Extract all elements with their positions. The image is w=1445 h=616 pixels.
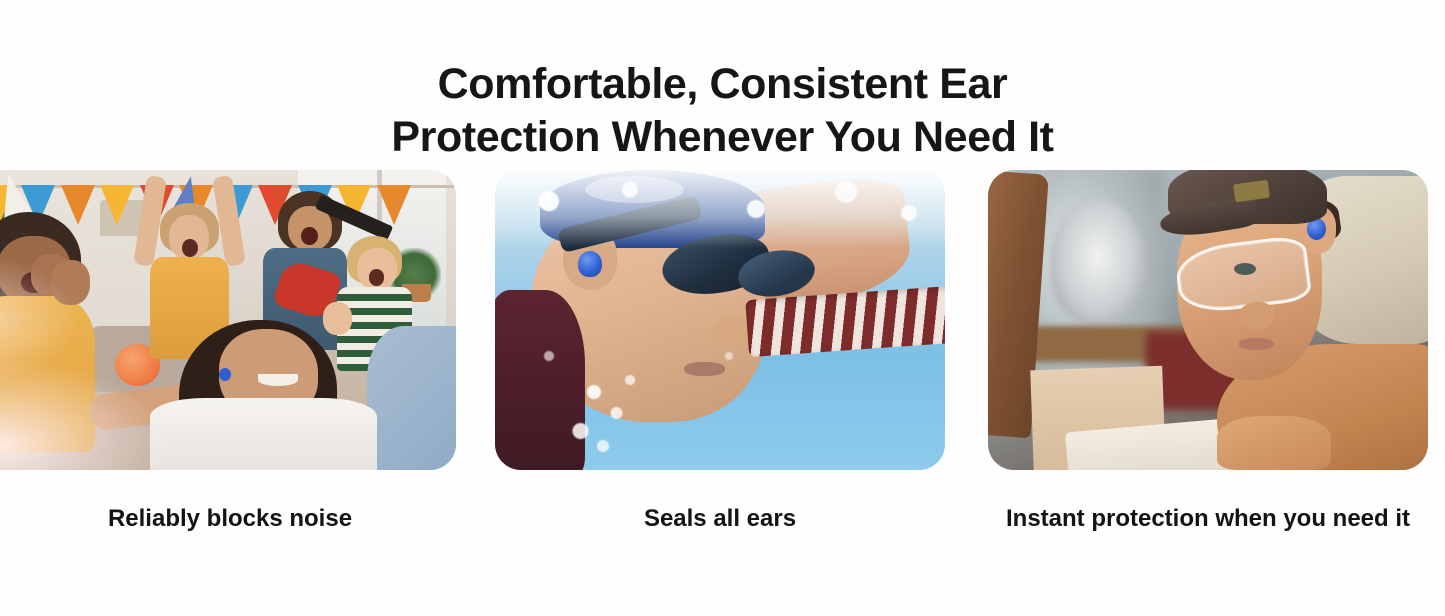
feature-captions-row: Reliably blocks noise Seals all ears Ins…: [0, 503, 1445, 593]
worker-nose: [1239, 302, 1274, 329]
feature-section: Comfortable, Consistent Ear Protection W…: [0, 0, 1445, 616]
photo-party-scene: [0, 170, 456, 470]
section-heading-line-1: Comfortable, Consistent Ear: [0, 58, 1445, 111]
feature-card-party[interactable]: [0, 170, 456, 470]
feature-card-worker[interactable]: [988, 170, 1428, 470]
section-heading-line-2: Protection Whenever You Need It: [0, 111, 1445, 164]
workshop-machine: [1050, 200, 1147, 326]
worker-lips: [1239, 338, 1274, 350]
caption-party: Reliably blocks noise: [0, 503, 460, 535]
photo-workshop-scene: [988, 170, 1428, 470]
caption-worker: Instant protection when you need it: [988, 503, 1428, 535]
photo-swimmer-scene: [495, 170, 945, 470]
caption-swimmer: Seals all ears: [495, 503, 945, 535]
worker-hand: [1217, 416, 1331, 470]
section-heading: Comfortable, Consistent Ear Protection W…: [0, 58, 1445, 165]
feature-cards-row: [0, 170, 1445, 470]
water-bubbles: [495, 170, 945, 470]
feature-card-swimmer[interactable]: [495, 170, 945, 470]
page-title: Comfortable, Consistent Ear Protection W…: [0, 58, 1445, 165]
party-image-fade-overlay: [0, 170, 456, 470]
